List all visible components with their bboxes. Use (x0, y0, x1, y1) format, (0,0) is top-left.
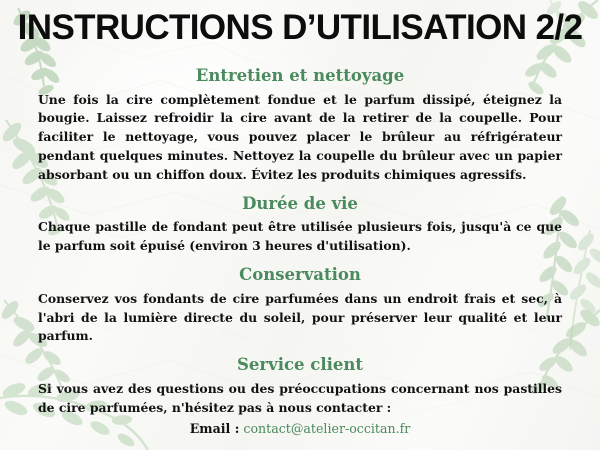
section-body: Chaque pastille de fondant peut être uti… (38, 218, 562, 256)
section-service-client: Service client Si vous avez des question… (38, 355, 562, 438)
email-address[interactable]: contact@atelier-occitan.fr (243, 421, 410, 436)
section-body: Si vous avez des questions ou des préocc… (38, 380, 562, 418)
section-heading: Entretien et nettoyage (38, 66, 562, 87)
section-heading: Durée de vie (38, 194, 562, 215)
section-body: Une fois la cire complètement fondue et … (38, 91, 562, 185)
contact-email-line: Email : contact@atelier-occitan.fr (38, 420, 562, 439)
section-conservation: Conservation Conservez vos fondants de c… (38, 265, 562, 346)
instructions-card: INSTRUCTIONS D’UTILISATION 2/2 Entretien… (0, 0, 600, 450)
section-body: Conservez vos fondants de cire parfumées… (38, 290, 562, 347)
section-entretien-et-nettoyage: Entretien et nettoyage Une fois la cire … (38, 66, 562, 185)
section-duree-de-vie: Durée de vie Chaque pastille de fondant … (38, 194, 562, 256)
email-label: Email : (190, 421, 240, 436)
section-heading: Service client (38, 355, 562, 376)
sections-container: Entretien et nettoyage Une fois la cire … (38, 66, 562, 448)
section-heading: Conservation (38, 265, 562, 286)
page-title: INSTRUCTIONS D’UTILISATION 2/2 (0, 8, 600, 48)
